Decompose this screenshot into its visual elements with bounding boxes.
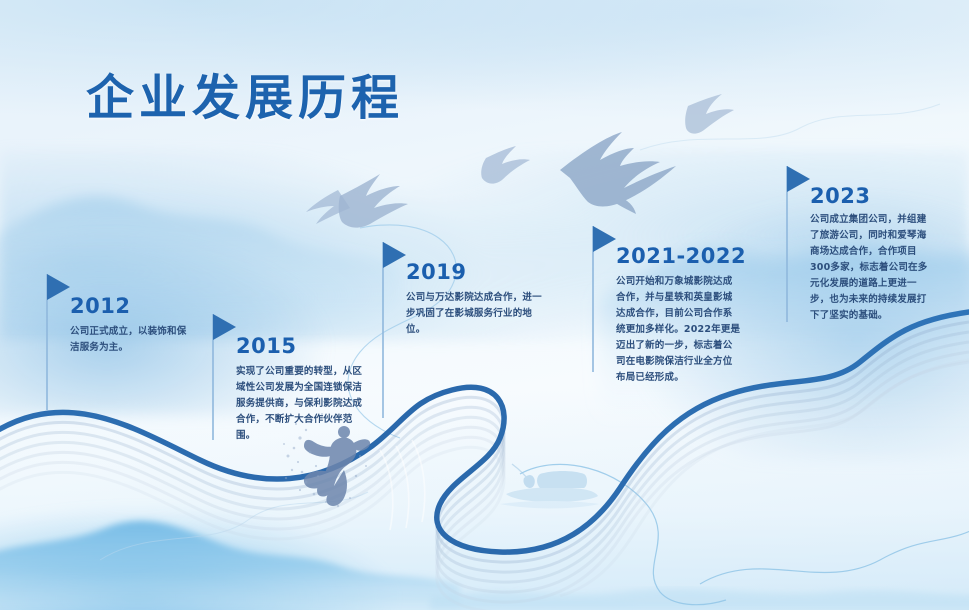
- year-description-2012: 公司正式成立，以装饰和保洁服务为主。: [70, 324, 196, 356]
- thin-curve-center: [520, 464, 726, 604]
- flag-marker-2019: [378, 238, 408, 418]
- timeline-poster: 2012 公司正式成立，以装饰和保洁服务为主。 2015 实现了公司重要的转型，…: [0, 0, 969, 610]
- bird-far-left: [306, 190, 350, 224]
- year-description-2021-2022: 公司开始和万象城影院达成合作，并与星轶和英皇影城达成合作，目前公司合作系统更加多…: [616, 274, 742, 386]
- year-label-2012: 2012: [70, 294, 130, 318]
- year-label-2021-2022: 2021-2022: [616, 244, 746, 268]
- mountain-bottom-left-2: [0, 572, 640, 610]
- year-label-2023: 2023: [810, 184, 870, 208]
- bird-small-center: [481, 146, 530, 184]
- bottom-haze: [0, 390, 969, 610]
- page-title: 企业发展历程: [86, 58, 404, 128]
- thin-curve-bottom-left: [100, 492, 368, 560]
- year-description-2015: 实现了公司重要的转型，从区域性公司发展为全国连锁保洁服务提供商，与保利影院达成合…: [236, 364, 364, 444]
- year-description-2019: 公司与万达影院达成合作，进一步巩固了在影城服务行业的地位。: [406, 290, 546, 338]
- thin-curve-top-right: [640, 104, 940, 150]
- ribbon-fold-highlights: [380, 440, 425, 530]
- fishing-boat-silhouette: [500, 464, 600, 509]
- thin-curve-right: [700, 520, 969, 584]
- flag-marker-2012: [42, 270, 72, 410]
- lower-left-mountain-wash: [0, 470, 530, 610]
- mountain-bottom-left: [0, 521, 460, 610]
- ribbon-under-strokes: [0, 322, 969, 610]
- bird-large: [560, 132, 676, 214]
- year-description-2023: 公司成立集团公司，并组建了旅游公司，同时和爱琴海商场达成合作，合作项目300多家…: [810, 212, 934, 324]
- year-label-2019: 2019: [406, 260, 466, 284]
- flag-marker-2021-2022: [588, 222, 618, 372]
- bird-small-upper: [685, 94, 734, 134]
- bird-medium-left: [339, 174, 408, 228]
- flag-marker-2015: [208, 310, 238, 440]
- flag-marker-2023: [782, 162, 812, 322]
- year-label-2015: 2015: [236, 334, 296, 358]
- mountain-bottom-right: [430, 589, 969, 610]
